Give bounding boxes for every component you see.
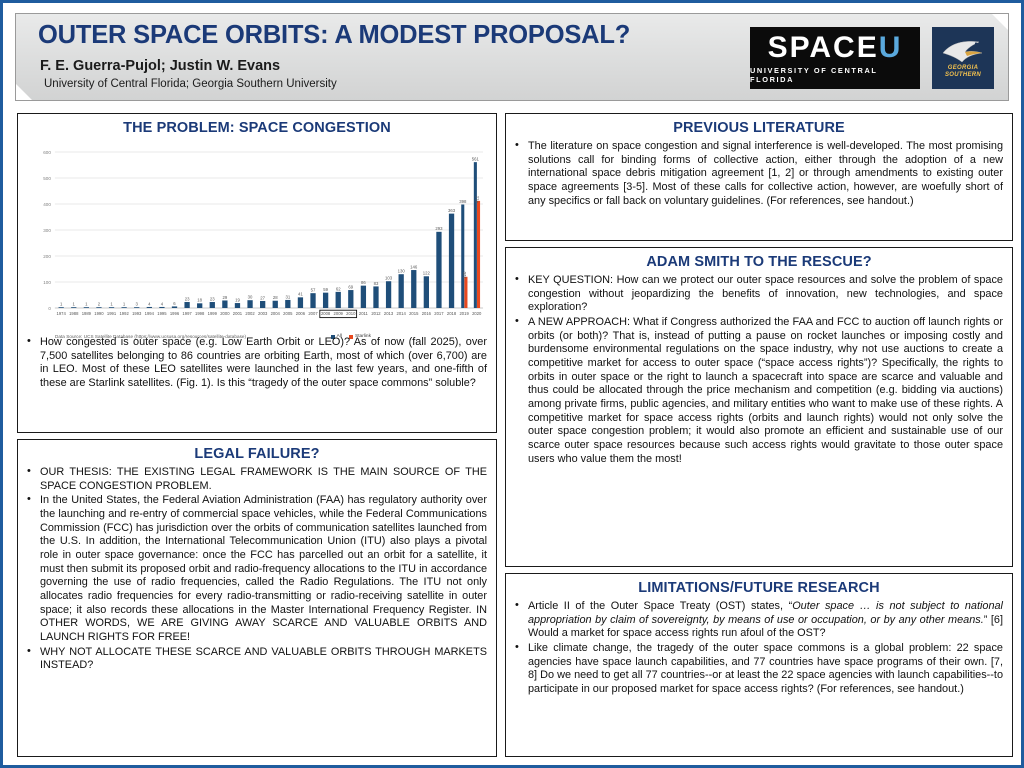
svg-text:29: 29	[222, 295, 227, 300]
svg-text:400: 400	[43, 202, 51, 207]
svg-text:2003: 2003	[258, 311, 268, 316]
svg-text:2007: 2007	[308, 311, 318, 316]
svg-text:41: 41	[298, 292, 303, 297]
svg-text:2005: 2005	[283, 311, 293, 316]
spaceu-logo-subtitle: UNIVERSITY OF CENTRAL FLORIDA	[750, 66, 920, 84]
list-item: KEY QUESTION: How can we protect our out…	[526, 274, 1003, 315]
list-item: Article II of the Outer Space Treaty (OS…	[526, 600, 1003, 641]
svg-text:1: 1	[123, 302, 126, 307]
panel-title-legal-failure: LEGAL FAILURE?	[25, 446, 489, 462]
spaceu-logo-wordmark: SPACEU	[768, 33, 903, 63]
spaceu-logo: SPACEU UNIVERSITY OF CENTRAL FLORIDA	[750, 27, 920, 89]
chart-x-axis-ticks: 1974198819891990199119921993199419951996…	[57, 311, 483, 316]
svg-text:2018: 2018	[447, 311, 457, 316]
svg-text:200: 200	[43, 254, 51, 259]
chart-bars	[59, 162, 481, 308]
eagle-icon	[940, 38, 986, 64]
svg-text:2014: 2014	[397, 311, 407, 316]
svg-text:2001: 2001	[233, 311, 243, 316]
svg-text:18: 18	[197, 298, 202, 303]
svg-text:57: 57	[311, 288, 316, 293]
svg-text:1995: 1995	[157, 311, 167, 316]
poster-header: OUTER SPACE ORBITS: A MODEST PROPOSAL? F…	[15, 13, 1009, 101]
svg-text:293: 293	[435, 226, 443, 231]
panel-title-previous-literature: PREVIOUS LITERATURE	[513, 120, 1005, 136]
ost-quote-pre: Article II of the Outer Space Treaty (OS…	[528, 600, 792, 612]
svg-text:130: 130	[398, 269, 406, 274]
svg-text:1974: 1974	[57, 311, 67, 316]
list-item: WHY NOT ALLOCATE THESE SCARCE AND VALUAB…	[38, 646, 487, 673]
chart-data-labels: 1112113446231823291930272831415759626986…	[60, 157, 480, 307]
svg-text:2002: 2002	[245, 311, 255, 316]
svg-text:100: 100	[43, 280, 51, 285]
svg-text:2009: 2009	[334, 311, 344, 316]
spaceu-logo-space-text: SPACE	[768, 33, 879, 63]
svg-text:1: 1	[85, 302, 88, 307]
svg-text:146: 146	[410, 264, 418, 269]
svg-text:28: 28	[273, 295, 278, 300]
gs-logo-line2: SOUTHERN	[945, 72, 981, 78]
svg-text:59: 59	[323, 287, 328, 292]
svg-text:62: 62	[336, 286, 341, 291]
header-corner-notch-bottom	[16, 84, 32, 100]
svg-text:4: 4	[161, 301, 164, 306]
svg-text:1: 1	[60, 302, 63, 307]
svg-text:1992: 1992	[119, 311, 129, 316]
svg-text:2011: 2011	[359, 311, 369, 316]
panel-title-adam-smith: ADAM SMITH TO THE RESCUE?	[513, 254, 1005, 270]
svg-text:2: 2	[98, 302, 101, 307]
svg-text:2004: 2004	[271, 311, 281, 316]
svg-text:1999: 1999	[208, 311, 218, 316]
svg-text:1993: 1993	[132, 311, 142, 316]
bullet-list-space-congestion: How congested is outer space (e.g. Low E…	[25, 336, 489, 391]
svg-text:500: 500	[43, 176, 51, 181]
svg-text:1989: 1989	[82, 311, 92, 316]
svg-text:2000: 2000	[220, 311, 230, 316]
panel-limitations-future-research: LIMITATIONS/FUTURE RESEARCH Article II o…	[505, 573, 1013, 757]
svg-text:2010: 2010	[346, 311, 356, 316]
chart-gridlines	[55, 152, 483, 308]
svg-text:1988: 1988	[69, 311, 79, 316]
bullet-list-legal-failure: OUR THESIS: THE EXISTING LEGAL FRAMEWORK…	[25, 466, 489, 673]
svg-text:2017: 2017	[434, 311, 444, 316]
affiliation-line: University of Central Florida; Georgia S…	[44, 78, 337, 90]
svg-text:2020: 2020	[472, 311, 482, 316]
svg-text:103: 103	[385, 276, 393, 281]
svg-text:1: 1	[110, 302, 113, 307]
bullet-list-limitations: Article II of the Outer Space Treaty (OS…	[513, 600, 1005, 697]
svg-text:27: 27	[260, 295, 265, 300]
svg-text:86: 86	[361, 280, 366, 285]
panel-legal-failure: LEGAL FAILURE? OUR THESIS: THE EXISTING …	[17, 439, 497, 757]
list-item: In the United States, the Federal Aviati…	[38, 494, 487, 644]
svg-text:300: 300	[43, 228, 51, 233]
svg-text:398: 398	[459, 199, 467, 204]
svg-text:23: 23	[210, 296, 215, 301]
svg-text:83: 83	[374, 281, 379, 286]
svg-text:2016: 2016	[422, 311, 432, 316]
svg-text:1996: 1996	[170, 311, 180, 316]
panel-title-space-congestion: THE PROBLEM: SPACE CONGESTION	[25, 120, 489, 136]
list-item: OUR THESIS: THE EXISTING LEGAL FRAMEWORK…	[38, 466, 487, 493]
satellite-launch-chart: 0100200300400500600 11121134462318232919…	[25, 140, 489, 336]
svg-text:2008: 2008	[321, 311, 331, 316]
list-item: How congested is outer space (e.g. Low E…	[38, 336, 487, 391]
svg-text:1998: 1998	[195, 311, 205, 316]
gs-logo-line1: GEORGIA	[948, 65, 978, 71]
svg-text:600: 600	[43, 150, 51, 155]
svg-text:363: 363	[448, 208, 456, 213]
svg-text:69: 69	[348, 284, 353, 289]
chart-svg: 0100200300400500600 11121134462318232919…	[25, 140, 489, 336]
svg-text:1994: 1994	[145, 311, 155, 316]
svg-text:0: 0	[48, 306, 51, 311]
list-item: Like climate change, the tragedy of the …	[526, 642, 1003, 697]
svg-text:19: 19	[235, 297, 240, 302]
panel-previous-literature: PREVIOUS LITERATURE The literature on sp…	[505, 113, 1013, 241]
svg-text:2006: 2006	[296, 311, 306, 316]
page-title: OUTER SPACE ORBITS: A MODEST PROPOSAL?	[38, 21, 630, 50]
svg-text:412: 412	[475, 195, 480, 203]
svg-text:2012: 2012	[371, 311, 381, 316]
header-corner-notch	[992, 14, 1008, 30]
svg-text:1991: 1991	[107, 311, 117, 316]
svg-text:31: 31	[285, 294, 290, 299]
list-item: A NEW APPROACH: What if Congress authori…	[526, 316, 1003, 466]
svg-text:120: 120	[462, 271, 467, 279]
svg-text:2013: 2013	[384, 311, 394, 316]
svg-text:2015: 2015	[409, 311, 419, 316]
svg-text:1: 1	[73, 302, 76, 307]
svg-text:1990: 1990	[94, 311, 104, 316]
svg-text:1997: 1997	[182, 311, 192, 316]
chart-y-axis-ticks: 0100200300400500600	[43, 150, 51, 311]
svg-text:3: 3	[136, 302, 139, 307]
georgia-southern-logo-text: GEORGIA SOUTHERN	[945, 65, 981, 78]
svg-text:122: 122	[423, 271, 431, 276]
bullet-list-previous-literature: The literature on space congestion and s…	[513, 140, 1005, 208]
svg-text:4: 4	[148, 301, 151, 306]
svg-text:30: 30	[248, 295, 253, 300]
panel-adam-smith: ADAM SMITH TO THE RESCUE? KEY QUESTION: …	[505, 247, 1013, 567]
panel-space-congestion: THE PROBLEM: SPACE CONGESTION 0100200300…	[17, 113, 497, 433]
svg-text:561: 561	[472, 157, 480, 162]
poster-canvas: OUTER SPACE ORBITS: A MODEST PROPOSAL? F…	[0, 0, 1024, 768]
author-list: F. E. Guerra-Pujol; Justin W. Evans	[40, 58, 280, 74]
panel-title-limitations: LIMITATIONS/FUTURE RESEARCH	[513, 580, 1005, 596]
svg-text:2019: 2019	[459, 311, 469, 316]
list-item: The literature on space congestion and s…	[526, 140, 1003, 208]
svg-text:23: 23	[185, 296, 190, 301]
georgia-southern-logo: GEORGIA SOUTHERN	[932, 27, 994, 89]
bullet-list-adam-smith: KEY QUESTION: How can we protect our out…	[513, 274, 1005, 466]
spaceu-logo-u-text: U	[879, 33, 903, 63]
svg-text:6: 6	[173, 301, 176, 306]
